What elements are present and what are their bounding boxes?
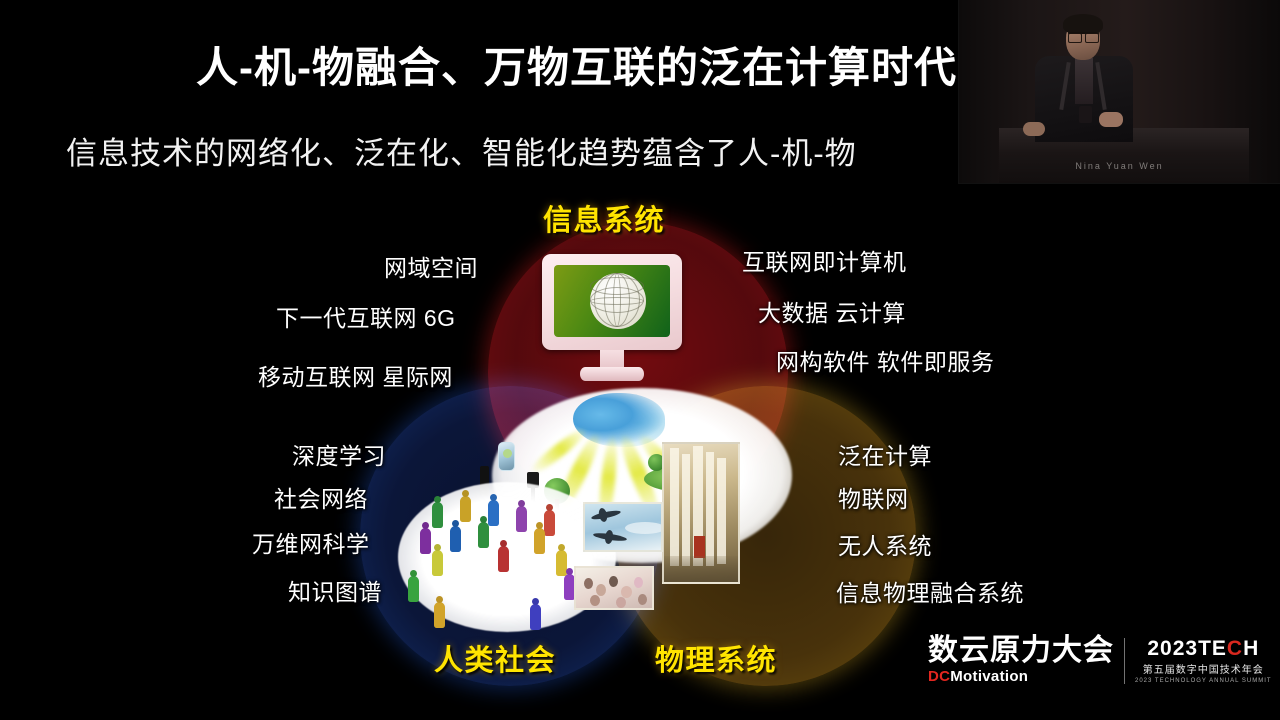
logo-subtitle-chinese: 第五届数字中国技术年会 <box>1143 661 1264 676</box>
badge-icon <box>1079 106 1092 123</box>
mobile-device-icon <box>498 442 515 471</box>
person-icon <box>544 510 555 536</box>
label-bottom-left-3: 万维网科学 <box>252 525 370 559</box>
person-icon <box>534 528 545 554</box>
logo-tech-prefix: TE <box>1198 637 1227 660</box>
logo-secondary: 2023TECH 第五届数字中国技术年会 2023 TECHNOLOGY ANN… <box>1135 638 1272 684</box>
speaker-shirt <box>1075 58 1093 104</box>
slide-canvas: 人-机-物融合、万物互联的泛在计算时代 信息技术的网络化、泛在化、智能化趋势蕴含… <box>0 0 1280 720</box>
person-icon <box>408 576 419 602</box>
label-bottom-left-2: 社会网络 <box>274 480 368 514</box>
person-icon <box>432 502 443 528</box>
label-top-right-1: 互联网即计算机 <box>742 243 907 277</box>
event-logo: 数云原力大会 DCMotivation 2023TECH 第五届数字中国技术年会… <box>928 636 1272 686</box>
skyscraper-photo-thumbnail <box>662 442 740 584</box>
speaker-video-overlay[interactable]: Nina Yuan Wen <box>958 0 1280 184</box>
computer-monitor-icon <box>542 254 682 384</box>
venn-title-physical-system: 物理系统 <box>655 637 777 679</box>
logo-tech-suffix: H <box>1243 637 1259 660</box>
label-bottom-right-1: 泛在计算 <box>838 437 932 471</box>
logo-english-name: DCMotivation <box>928 668 1028 686</box>
venn-title-human-society: 人类社会 <box>434 637 556 679</box>
label-bottom-right-3: 无人系统 <box>838 527 932 561</box>
person-icon <box>420 528 431 554</box>
label-top-right-3: 网构软件 软件即服务 <box>776 343 994 377</box>
person-icon <box>488 500 499 526</box>
person-icon <box>516 506 527 532</box>
label-top-right-2: 大数据 云计算 <box>758 294 906 328</box>
speaker-hand-right <box>1099 112 1123 127</box>
person-icon <box>432 550 443 576</box>
glasses-icon <box>1068 32 1099 40</box>
aircraft-photo-thumbnail <box>583 502 663 552</box>
logo-primary: 数云原力大会 DCMotivation <box>928 636 1114 686</box>
crowd-photo-thumbnail <box>574 566 654 610</box>
logo-tech-accent-icon: C <box>1227 637 1243 660</box>
label-bottom-right-2: 物联网 <box>838 480 909 514</box>
speaker-hand-left <box>1023 122 1045 136</box>
person-icon <box>478 522 489 548</box>
label-top-left-2: 下一代互联网 6G <box>276 299 456 333</box>
logo-motivation-text: Motivation <box>950 668 1028 685</box>
logo-divider <box>1124 638 1125 684</box>
label-bottom-left-4: 知识图谱 <box>288 573 382 607</box>
person-icon <box>460 496 471 522</box>
person-icon <box>498 546 509 572</box>
person-icon <box>434 602 445 628</box>
person-icon <box>450 526 461 552</box>
label-bottom-left-1: 深度学习 <box>292 437 386 471</box>
logo-year-text: 2023 <box>1147 637 1198 660</box>
logo-subtitle-english: 2023 TECHNOLOGY ANNUAL SUMMIT <box>1135 678 1272 684</box>
label-bottom-right-4: 信息物理融合系统 <box>836 574 1024 608</box>
logo-chinese-name: 数云原力大会 <box>928 636 1114 666</box>
logo-year-tech: 2023TECH <box>1147 638 1259 660</box>
person-icon <box>530 604 541 630</box>
page-subtitle: 信息技术的网络化、泛在化、智能化趋势蕴含了人-机-物 <box>66 128 857 173</box>
speaker-hair <box>1063 14 1103 34</box>
globe-icon <box>590 273 646 329</box>
logo-dc-text: DC <box>928 668 950 685</box>
page-title: 人-机-物融合、万物互联的泛在计算时代 <box>196 34 957 95</box>
venn-title-information-system: 信息系统 <box>543 197 665 239</box>
earth-blob-icon <box>573 393 665 447</box>
label-top-left-3: 移动互联网 星际网 <box>258 358 453 392</box>
pip-caption: Nina Yuan Wen <box>959 161 1280 171</box>
label-top-left-1: 网域空间 <box>384 249 478 283</box>
